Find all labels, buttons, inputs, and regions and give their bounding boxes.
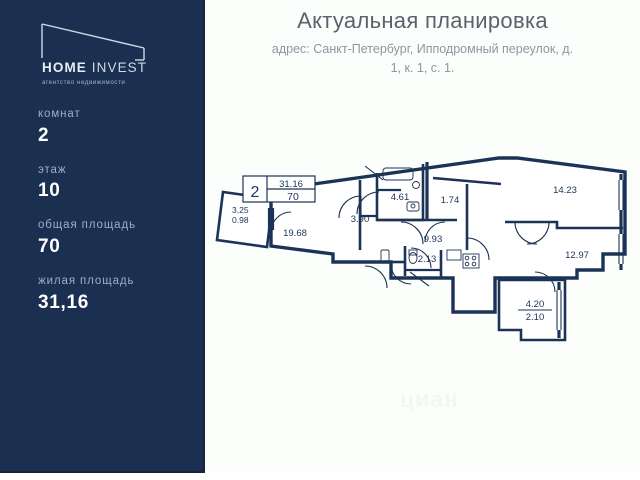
page-header: Актуальная планировка адрес: Санкт-Петер… xyxy=(205,8,640,77)
company-logo[interactable]: HOME INVEST агентство недвижимости xyxy=(30,22,160,80)
stat-total-area-label: общая площадь xyxy=(38,219,198,233)
main-content: Актуальная планировка адрес: Санкт-Петер… xyxy=(205,0,640,473)
label-storage: 2.13 xyxy=(418,254,437,265)
label-living-room: 19.68 xyxy=(283,228,307,239)
label-hall: 3.90 xyxy=(351,214,370,225)
label-balcony-left-top: 3.25 xyxy=(232,205,249,215)
house-roof-outline-icon xyxy=(40,22,150,62)
logo-wordmark: HOME INVEST xyxy=(42,60,147,75)
label-balcony-right-bottom: 2.10 xyxy=(526,312,545,323)
page-address: адрес: Санкт-Петербург, Ипподромный пере… xyxy=(205,40,640,76)
stamp-living-area: 31.16 xyxy=(279,179,303,190)
floorplan-drawing[interactable]: 2 31.16 70 3.25 0.98 19.68 3.90 4.61 1.7… xyxy=(205,150,640,380)
logo-word-home: HOME xyxy=(42,60,87,75)
apartment-stats: комнат 2 этаж 10 общая площадь 70 жилая … xyxy=(38,108,198,331)
label-kitchen: 12.97 xyxy=(565,250,589,261)
label-corridor: 9.93 xyxy=(424,234,443,245)
stat-floor: этаж 10 xyxy=(38,164,198,203)
stat-total-area-value: 70 xyxy=(38,236,198,258)
footer-strip xyxy=(410,473,640,480)
stamp-total-area: 70 xyxy=(287,191,299,203)
floorplan-page: HOME INVEST агентство недвижимости комна… xyxy=(0,0,640,480)
stat-floor-value: 10 xyxy=(38,180,198,202)
page-title: Актуальная планировка xyxy=(205,8,640,34)
label-bathroom: 4.61 xyxy=(391,192,410,203)
logo-word-invest: INVEST xyxy=(92,60,147,75)
stat-living-area: жилая площадь 31,16 xyxy=(38,275,198,314)
sidebar: HOME INVEST агентство недвижимости комна… xyxy=(0,0,205,473)
stat-rooms-value: 2 xyxy=(38,125,198,147)
label-wc: 1.74 xyxy=(441,195,460,206)
stamp-rooms: 2 xyxy=(251,184,260,201)
stat-rooms-label: комнат xyxy=(38,108,198,122)
stat-living-area-label: жилая площадь xyxy=(38,275,198,289)
logo-tagline: агентство недвижимости xyxy=(42,79,125,86)
stat-rooms: комнат 2 xyxy=(38,108,198,147)
label-bedroom: 14.23 xyxy=(553,185,577,196)
floorplan-svg[interactable]: 2 31.16 70 3.25 0.98 19.68 3.90 4.61 1.7… xyxy=(205,150,640,380)
label-balcony-left-bottom: 0.98 xyxy=(232,215,249,225)
label-balcony-right-top: 4.20 xyxy=(526,299,545,310)
stat-total-area: общая площадь 70 xyxy=(38,219,198,258)
stat-living-area-value: 31,16 xyxy=(38,292,198,314)
watermark: циан xyxy=(400,386,585,420)
stat-floor-label: этаж xyxy=(38,164,198,178)
